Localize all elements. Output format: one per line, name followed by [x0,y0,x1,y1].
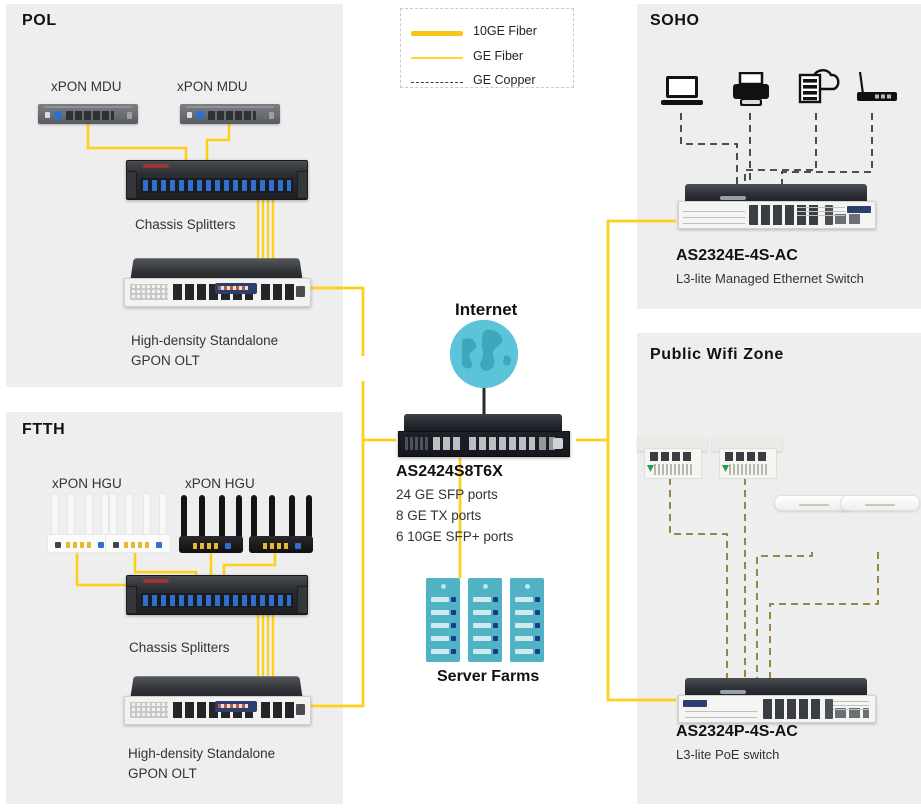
rack-ear-right [297,586,308,614]
rack-bay [473,636,491,641]
antenna [143,493,151,539]
rack-bay [473,623,491,628]
router-body [47,534,113,553]
label-gpon-olt-pol-line1: High-density Standalone [131,333,278,348]
label-gpon-olt-ftth-line2: GPON OLT [128,766,197,781]
label-chassis-splitters-pol: Chassis Splitters [135,217,236,232]
ap-seam-line [865,504,895,506]
device-chassis-splitter-ftth[interactable] [126,575,308,615]
ap-status-indicator [722,465,729,472]
legend-label-ge-copper: GE Copper [473,73,536,87]
switch-rj45-bank-2 [825,699,833,719]
antenna [125,493,133,539]
switch-model-print [797,207,845,216]
ap-faceplate [644,448,702,479]
rack-bay [515,623,533,628]
legend: 10GE Fiber GE Fiber GE Copper [400,8,574,88]
rack-bay-led [535,597,540,602]
antenna [159,493,167,539]
splitter-adapter-panel [141,593,293,608]
olt-front-panel [124,278,311,307]
rack-power-led [441,584,446,589]
switch-led-array [685,706,757,718]
rack-ear-left [126,171,137,199]
device-wall-plate-ap-1[interactable] [637,437,707,479]
label-xpon-mdu-1: xPON MDU [51,79,122,94]
antenna [51,493,59,539]
switch-led-array [683,206,745,224]
zone-title-pol: POL [22,12,57,30]
rack-bay [473,649,491,654]
antenna [109,493,117,539]
switch-brand-logo [847,206,871,213]
rack-bay [515,610,533,615]
server-cloud-icon [796,68,842,113]
rack-bay-led [493,610,498,615]
server-rack-2 [468,578,502,662]
device-wall-plate-ap-2[interactable] [712,437,782,479]
device-xpon-mdu-1[interactable] [38,104,138,124]
label-gpon-olt-pol-line2: GPON OLT [131,353,200,368]
legend-label-ge-fiber: GE Fiber [473,49,523,63]
rack-bay [431,636,449,641]
rack-bay-led [535,610,540,615]
olt-console-port [296,704,305,715]
rack-bay [431,649,449,654]
antenna [306,495,312,539]
rack-bay-led [535,636,540,641]
mdu-top-edge [186,106,274,108]
olt-front-panel [124,696,311,725]
rack-bay-led [535,623,540,628]
legend-swatch-ge-copper [411,82,463,83]
ap-vent-grille [729,464,769,475]
device-gpon-olt-pol[interactable] [124,258,309,308]
router-wan-port [98,542,104,548]
rack-bay [431,597,449,602]
label-gpon-olt-ftth-line1: High-density Standalone [128,746,275,761]
switch-model-print [833,701,869,710]
legend-swatch-10ge-fiber [411,31,463,36]
antenna [251,495,257,539]
olt-led-array [130,702,168,718]
legend-label-10ge-fiber: 10GE Fiber [473,24,537,38]
label-xpon-hgu-2: xPON HGU [185,476,255,491]
antenna [219,495,225,539]
device-soho-switch[interactable] [678,184,874,229]
mdu-status-led [127,112,132,119]
switch-front-panel [678,201,876,229]
olt-console-port [296,286,305,297]
switch-rj45-bank-1 [763,699,823,719]
mdu-lan-ports [66,111,114,120]
label-poe-switch-desc: L3-lite PoE switch [676,747,779,762]
rack-bay-led [535,649,540,654]
rack-bay-led [493,597,498,602]
rack-ear-left [126,586,137,614]
device-xpon-hgu-white-1[interactable] [47,492,111,553]
label-core-spec-1: 24 GE SFP ports [396,487,498,502]
rack-bay-led [493,636,498,641]
rack-bay [473,597,491,602]
legend-row-10ge-fiber: 10GE Fiber [401,24,573,40]
antenna [269,495,275,539]
label-server-farms: Server Farms [437,668,539,686]
mdu-lan-ports [208,111,256,120]
legend-row-ge-copper: GE Copper [401,73,573,89]
switch-front-panel [678,695,876,723]
mdu-top-edge [44,106,132,108]
olt-chassis-top [130,676,302,698]
mdu-power-port [45,112,50,118]
rack-bay-led [451,597,456,602]
splitter-input-lead [143,164,169,168]
device-xpon-hgu-black-1[interactable] [179,492,243,553]
antenna [236,495,242,539]
antenna [289,495,295,539]
ap-rj45-ports [725,452,769,461]
splitter-sc-adapters [143,595,291,606]
splitter-sc-adapters [143,180,291,191]
device-xpon-mdu-2[interactable] [180,104,280,124]
label-soho-switch-model: AS2324E-4S-AC [676,247,798,265]
rack-power-led [525,584,530,589]
rack-bay-led [493,649,498,654]
zone-title-soho: SOHO [650,12,700,30]
rack-bay [431,610,449,615]
ap-seam-line [799,504,829,506]
rack-power-led [483,584,488,589]
router-status-leds [193,543,219,549]
core-switch-led-block [405,437,429,450]
router-wan-port [225,543,231,549]
antenna [85,493,93,539]
label-core-switch-model: AS2424S8T6X [396,463,503,481]
olt-port-bank-right [261,284,297,300]
splitter-input-lead [143,579,169,583]
device-ceiling-ap-2[interactable] [840,495,920,511]
mdu-power-port [187,112,192,118]
zone-title-public-wifi: Public Wifi Zone [650,346,784,364]
core-switch-sfp-bank-2 [469,437,535,450]
olt-brand-badge [215,701,257,712]
switch-top-label [720,196,746,200]
router-status-leds [66,542,92,548]
olt-led-array [130,284,168,300]
router-power-led [113,542,119,548]
device-gpon-olt-ftth[interactable] [124,676,309,726]
router-status-leds [124,542,150,548]
rack-bay [515,636,533,641]
mdu-uplink-port [54,111,62,119]
rack-bay [431,623,449,628]
rack-bay-led [451,610,456,615]
switch-top-label [720,690,746,694]
router-body [105,534,171,553]
internet-globe-icon [450,320,518,388]
rack-bay-led [451,649,456,654]
label-xpon-hgu-1: xPON HGU [52,476,122,491]
rack-bay [515,597,533,602]
server-rack-1 [426,578,460,662]
legend-row-ge-fiber: GE Fiber [401,49,573,65]
laptop-icon [661,74,703,113]
olt-brand-badge [215,283,257,294]
label-core-spec-3: 6 10GE SFP+ ports [396,529,513,544]
ap-status-indicator [647,465,654,472]
legend-swatch-ge-fiber [411,57,463,59]
antenna [67,493,75,539]
label-chassis-splitters-ftth: Chassis Splitters [129,640,230,655]
splitter-adapter-panel [141,178,293,193]
core-switch-sfp-bank-1 [433,437,463,450]
router-wan-port [156,542,162,548]
olt-port-bank-right [261,702,297,718]
rack-bay [473,610,491,615]
device-poe-switch[interactable] [678,678,874,723]
device-xpon-hgu-black-2[interactable] [249,492,313,553]
server-rack-3 [510,578,544,662]
server-farm-icon [426,578,544,662]
label-core-spec-2: 8 GE TX ports [396,508,481,523]
ap-rj45-ports [650,452,694,461]
olt-chassis-top [130,258,302,280]
printer-icon [731,72,771,113]
core-switch-mgmt-port [553,438,563,449]
device-xpon-hgu-white-2[interactable] [105,492,169,553]
rack-bay [515,649,533,654]
antenna [199,495,205,539]
antenna [181,495,187,539]
router-power-led [55,542,61,548]
router-wan-port [295,543,301,549]
label-internet: Internet [455,300,517,320]
ap-vent-grille [654,464,694,475]
label-soho-switch-desc: L3-lite Managed Ethernet Switch [676,271,864,286]
router-status-leds [263,543,289,549]
mdu-uplink-port [196,111,204,119]
device-core-switch[interactable] [398,414,568,462]
device-chassis-splitter-pol[interactable] [126,160,308,200]
rack-bay-led [451,623,456,628]
zone-title-ftth: FTTH [22,421,65,439]
rack-bay-led [451,636,456,641]
rack-ear-right [297,171,308,199]
mdu-status-led [269,112,274,119]
wireless-router-icon [853,68,899,115]
rack-bay-led [493,623,498,628]
core-switch-front-panel [398,431,570,457]
label-poe-switch-model: AS2324P-4S-AC [676,723,798,741]
ap-faceplate [719,448,777,479]
label-xpon-mdu-2: xPON MDU [177,79,248,94]
